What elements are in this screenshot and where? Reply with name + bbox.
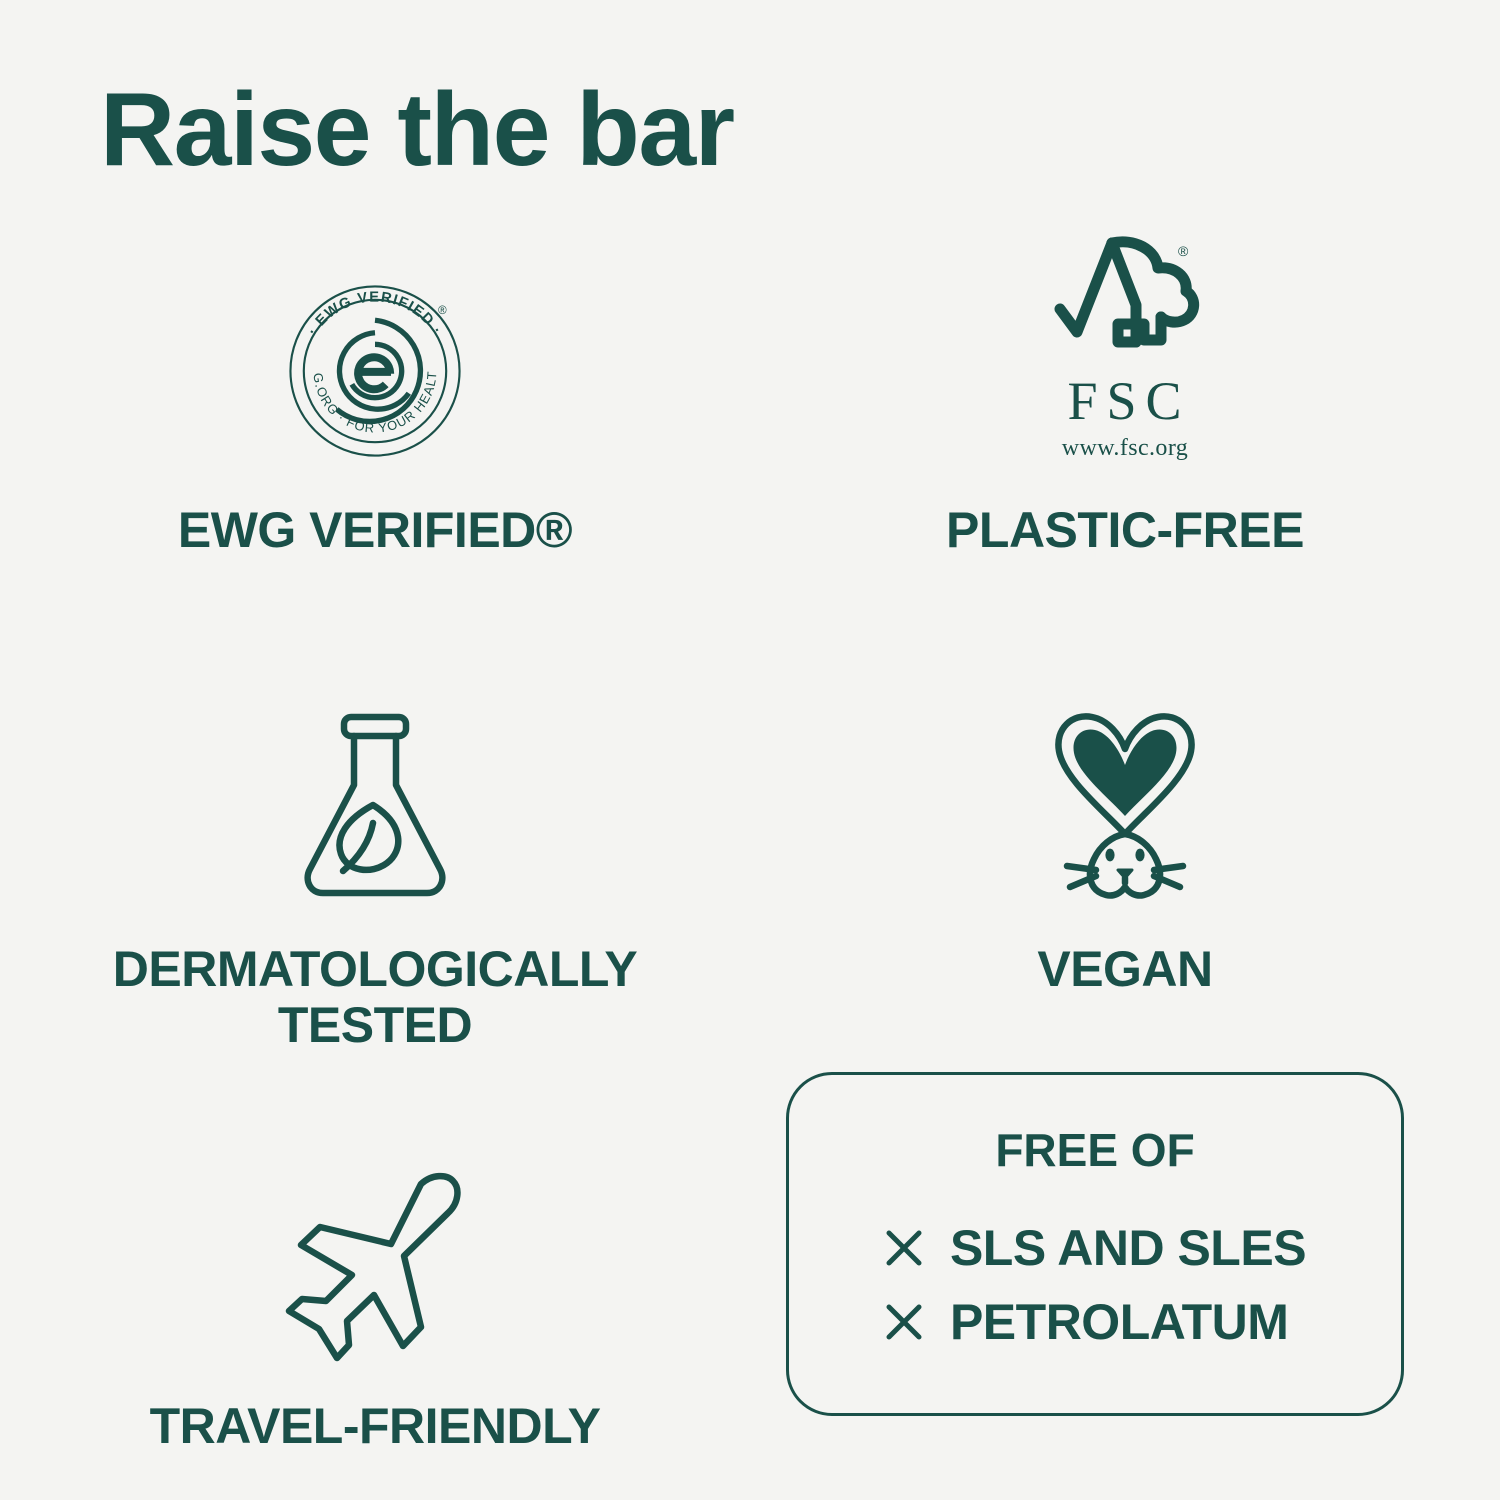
- registered-mark: ®: [1178, 243, 1189, 259]
- feature-label: TRAVEL-FRIENDLY: [150, 1398, 601, 1454]
- feature-label: VEGAN: [1037, 941, 1212, 997]
- free-of-item: PETROLATUM: [884, 1293, 1306, 1351]
- feature-row: · EWG VERIFIED · EWG.ORG · FOR YOUR HEAL…: [0, 250, 1500, 558]
- icon-container: [271, 1138, 479, 1368]
- free-of-item-label: PETROLATUM: [950, 1293, 1288, 1351]
- rabbit-heart-ears-icon: [1034, 703, 1216, 903]
- feature-plastic-free: ® FSC www.fsc.org PLASTIC-FREE: [750, 250, 1500, 558]
- free-of-item-label: SLS AND SLES: [950, 1219, 1306, 1277]
- fsc-url: www.fsc.org: [1062, 436, 1188, 460]
- feature-ewg-verified: · EWG VERIFIED · EWG.ORG · FOR YOUR HEAL…: [0, 250, 750, 558]
- feature-label: EWG VERIFIED®: [178, 502, 572, 558]
- feature-travel-friendly: TRAVEL-FRIENDLY: [0, 1138, 750, 1454]
- free-of-list: SLS AND SLES PETROLATUM: [884, 1219, 1306, 1351]
- feature-label: DERMATOLOGICALLY TESTED: [113, 941, 637, 1053]
- svg-text:®: ®: [438, 305, 447, 317]
- icon-container: [1034, 683, 1216, 903]
- x-icon: [884, 1302, 924, 1342]
- icon-container: ® FSC www.fsc.org: [1050, 250, 1200, 460]
- icon-container: [295, 683, 455, 903]
- free-of-title: FREE OF: [995, 1123, 1194, 1177]
- feature-vegan: VEGAN: [750, 683, 1500, 1053]
- svg-text:· EWG VERIFIED ·: · EWG VERIFIED ·: [305, 290, 445, 339]
- fsc-tree-checkmark-icon: ®: [1050, 232, 1200, 372]
- flask-leaf-icon: [295, 711, 455, 903]
- free-of-item: SLS AND SLES: [884, 1219, 1306, 1277]
- ewg-verified-badge-icon: · EWG VERIFIED · EWG.ORG · FOR YOUR HEAL…: [286, 282, 464, 460]
- fsc-letters: FSC: [1059, 374, 1190, 428]
- feature-row: DERMATOLOGICALLY TESTED: [0, 683, 1500, 1053]
- icon-container: · EWG VERIFIED · EWG.ORG · FOR YOUR HEAL…: [286, 250, 464, 460]
- x-icon: [884, 1228, 924, 1268]
- feature-dermatologically-tested: DERMATOLOGICALLY TESTED: [0, 683, 750, 1053]
- page-title: Raise the bar: [100, 78, 734, 182]
- free-of-card: FREE OF SLS AND SLES PETROLATUM: [786, 1072, 1404, 1416]
- airplane-icon: [271, 1168, 479, 1368]
- feature-label: PLASTIC-FREE: [946, 502, 1304, 558]
